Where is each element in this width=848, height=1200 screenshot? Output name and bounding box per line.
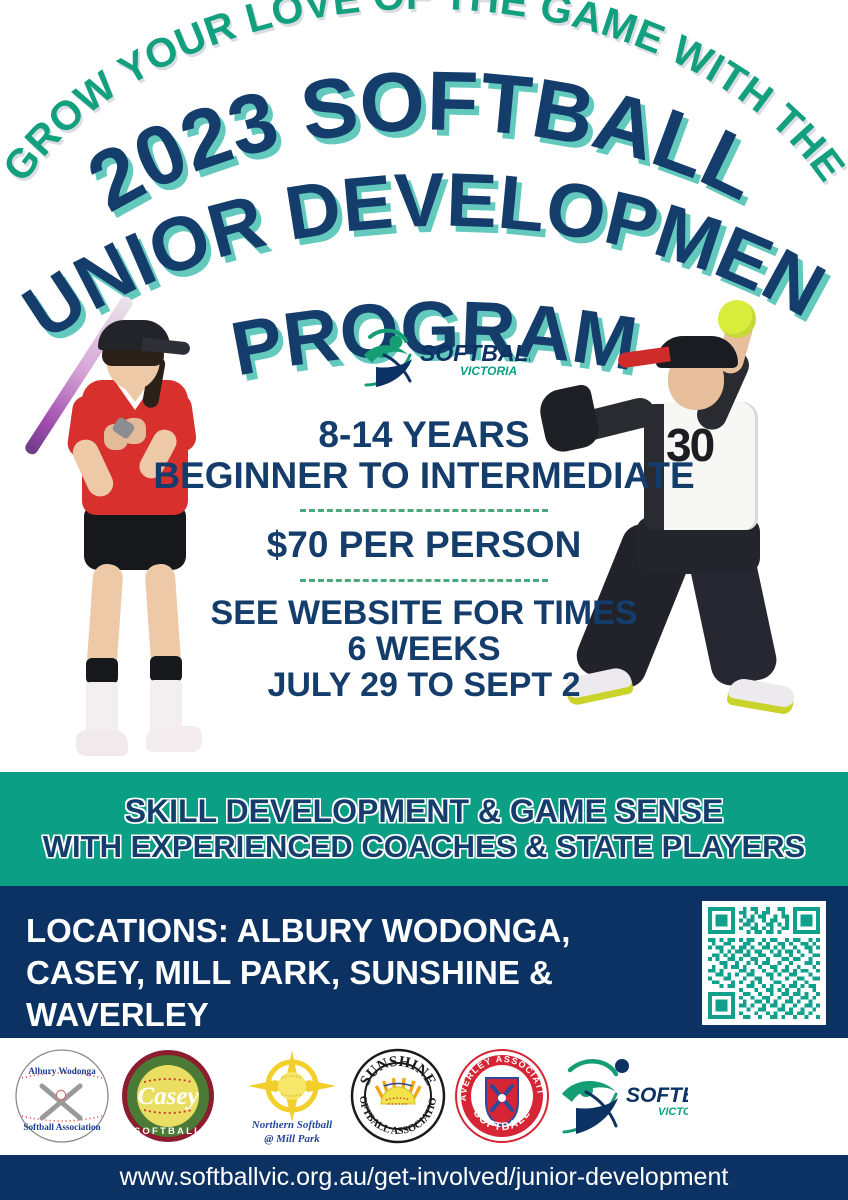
sponsor-logo-albury-wodonga: Albury Wodonga Softball Association xyxy=(12,1046,112,1146)
batter-shoe-right xyxy=(146,726,202,752)
softball-victoria-logo: SOFTBALL VICTORIA xyxy=(360,325,530,393)
poster-root: GROW YOUR LOVE OF THE GAME WITH THE 2023… xyxy=(0,0,848,1200)
divider-2 xyxy=(300,579,548,582)
casey-wordmark: Casey xyxy=(137,1083,199,1110)
sponsor-logo-sunshine: SUNSHINE SOFTBALL ASSOCIATION xyxy=(348,1046,448,1146)
times-text: SEE WEBSITE FOR TIMES xyxy=(0,595,848,631)
sv-sponsor-sub: VICTORIA xyxy=(658,1106,688,1118)
ages-text: 8-14 YEARS xyxy=(0,415,848,454)
divider-1 xyxy=(300,509,548,512)
sv-logo-wordmark: SOFTBALL xyxy=(420,340,530,366)
albury-top-label: Albury Wodonga xyxy=(28,1066,96,1076)
sponsor-logo-softball-victoria: SOFTBALL VICTORIA xyxy=(556,1052,688,1142)
sponsor-logo-northern-mill-park: Northern Softball @ Mill Park xyxy=(240,1046,344,1146)
sponsor-logo-casey: Casey SOFTBALL xyxy=(118,1046,218,1146)
northern-bottom-label: @ Mill Park xyxy=(264,1133,320,1145)
casey-sub: SOFTBALL xyxy=(134,1126,202,1137)
sponsor-logos-strip: Albury Wodonga Softball Association Case… xyxy=(0,1038,848,1155)
program-details: 8-14 YEARS BEGINNER TO INTERMEDIATE $70 … xyxy=(0,415,848,703)
locations-text: LOCATIONS: ALBURY WODONGA, CASEY, MILL P… xyxy=(26,910,666,1037)
skill-development-band: SKILL DEVELOPMENT & GAME SENSE WITH EXPE… xyxy=(0,772,848,886)
sv-logo-sub: VICTORIA xyxy=(460,364,517,378)
dates-text: JULY 29 TO SEPT 2 xyxy=(0,667,848,703)
level-text: BEGINNER TO INTERMEDIATE xyxy=(0,456,848,495)
footer-bar: www.softballvic.org.au/get-involved/juni… xyxy=(0,1155,848,1200)
band-line-1: SKILL DEVELOPMENT & GAME SENSE xyxy=(125,794,724,830)
softball-ball xyxy=(718,300,756,338)
website-url[interactable]: www.softballvic.org.au/get-involved/juni… xyxy=(120,1163,729,1192)
hero-section: GROW YOUR LOVE OF THE GAME WITH THE 2023… xyxy=(0,0,848,775)
price-text: $70 PER PERSON xyxy=(0,525,848,564)
albury-bottom-label: Softball Association xyxy=(23,1122,100,1132)
northern-top-label: Northern Softball xyxy=(251,1119,333,1131)
sv-sponsor-wordmark: SOFTBALL xyxy=(626,1084,688,1107)
qr-code[interactable] xyxy=(702,901,826,1025)
duration-text: 6 WEEKS xyxy=(0,631,848,667)
sponsor-logo-waverley: WAVERLEY ASSOCIATION SOFTBALL xyxy=(452,1046,552,1146)
band-line-2: WITH EXPERIENCED COACHES & STATE PLAYERS xyxy=(43,830,805,865)
batter-shoe-left xyxy=(76,730,128,756)
